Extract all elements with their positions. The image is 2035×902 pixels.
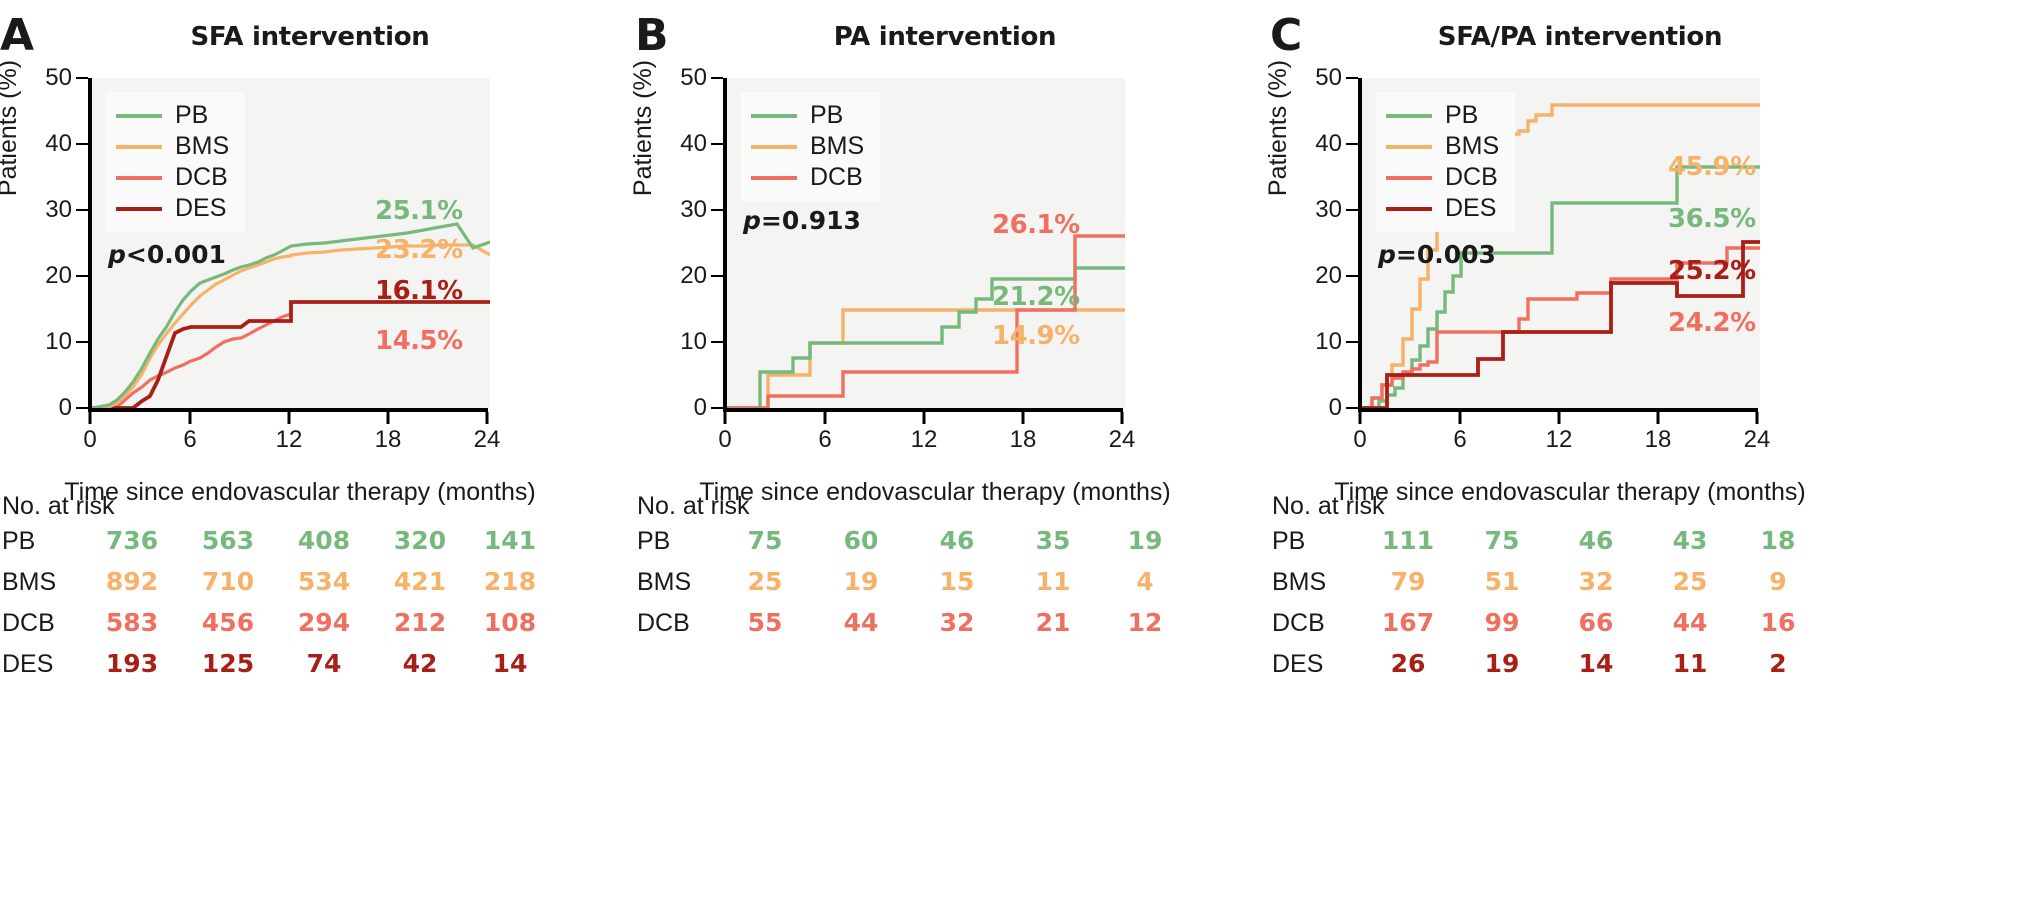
risk-value-bms-24-c: 9	[1769, 568, 1786, 596]
table-row: BMS 25 19 15 11 4	[635, 568, 1255, 609]
risk-value-bms-18-c: 25	[1673, 568, 1708, 596]
risk-value-pb-18-a: 320	[394, 527, 446, 555]
legend-item-pb-a[interactable]: PB	[116, 100, 229, 131]
plot-area-a: Patients (%) 50 40 30 20 10 0	[0, 78, 620, 438]
legend-label-dcb: DCB	[1445, 165, 1498, 190]
risk-value-pb-18-b: 35	[1036, 527, 1071, 555]
table-row: DES 26 19 14 11 2	[1270, 650, 1890, 691]
endpoint-label-bms-b: 14.9%	[992, 321, 1080, 351]
y-tick-40-c: 40	[1315, 132, 1342, 156]
x-tick-24-b: 24	[1109, 428, 1136, 452]
risk-value-des-12-c: 14	[1579, 650, 1614, 678]
legend-label-des: DES	[175, 196, 226, 221]
risk-value-pb-6-a: 563	[202, 527, 254, 555]
risk-table-title-c: No. at risk	[1272, 492, 1890, 521]
legend-line-dcb-icon	[1386, 176, 1432, 180]
risk-value-des-0-c: 26	[1391, 650, 1426, 678]
table-row: PB 75 60 46 35 19	[635, 527, 1255, 568]
table-row: DCB 583 456 294 212 108	[0, 609, 620, 650]
x-tick-24-c: 24	[1744, 428, 1771, 452]
risk-value-dcb-0-b: 55	[748, 609, 783, 637]
x-tick-18-c: 18	[1645, 428, 1672, 452]
p-value-c: p=0.003	[1378, 240, 1496, 269]
x-tick-12-a: 12	[276, 428, 303, 452]
p-text-b: =0.913	[761, 206, 861, 235]
risk-value-pb-24-a: 141	[484, 527, 536, 555]
risk-row-name-dcb-c: DCB	[1272, 611, 1325, 636]
table-row: PB 736 563 408 320 141	[0, 527, 620, 568]
legend-label-bms: BMS	[175, 134, 229, 159]
risk-table-title-a: No. at risk	[2, 492, 620, 521]
risk-value-des-6-c: 19	[1485, 650, 1520, 678]
legend-label-des: DES	[1445, 196, 1496, 221]
risk-value-dcb-18-b: 21	[1036, 609, 1071, 637]
x-axis-ticks-b: 0 6 12 18 24	[723, 412, 1127, 472]
endpoint-label-des-a: 16.1%	[375, 276, 463, 306]
y-tick-50-c: 50	[1315, 66, 1342, 90]
y-tick-10-c: 10	[1315, 330, 1342, 354]
legend-line-pb-icon	[116, 114, 162, 118]
risk-value-pb-12-c: 46	[1579, 527, 1614, 555]
y-axis-ticks-b: 50 40 30 20 10 0	[659, 78, 723, 408]
risk-row-name-dcb-b: DCB	[637, 611, 690, 636]
legend-a: PB BMS DCB DES	[106, 92, 245, 232]
x-axis-ticks-c: 0 6 12 18 24	[1358, 412, 1762, 472]
endpoint-label-bms-a: 23.2%	[375, 235, 463, 265]
table-row: DCB 55 44 32 21 12	[635, 609, 1255, 650]
table-row: DCB 167 99 66 44 16	[1270, 609, 1890, 650]
endpoint-label-pb-a: 25.1%	[375, 196, 463, 226]
risk-value-pb-24-b: 19	[1128, 527, 1163, 555]
risk-value-des-12-a: 74	[307, 650, 342, 678]
risk-table-a: No. at risk PB 736 563 408 320 141 BMS 8…	[0, 492, 620, 691]
legend-line-des-icon	[116, 207, 162, 211]
risk-value-dcb-24-b: 12	[1128, 609, 1163, 637]
x-tick-6-b: 6	[818, 428, 831, 452]
risk-row-name-bms-c: BMS	[1272, 570, 1326, 595]
x-tick-18-a: 18	[375, 428, 402, 452]
legend-c: PB BMS DCB DES	[1376, 92, 1515, 232]
p-value-b: p=0.913	[743, 206, 861, 235]
legend-label-pb: PB	[175, 103, 208, 128]
p-italic-c: p	[1378, 240, 1396, 269]
risk-row-name-bms-b: BMS	[637, 570, 691, 595]
endpoint-label-pb-c: 36.5%	[1668, 204, 1756, 234]
x-tick-12-b: 12	[911, 428, 938, 452]
risk-value-bms-24-a: 218	[484, 568, 536, 596]
x-tick-12-c: 12	[1546, 428, 1573, 452]
risk-value-pb-12-b: 46	[940, 527, 975, 555]
endpoint-label-bms-c: 45.9%	[1668, 152, 1756, 182]
y-axis-label-c: Patients (%)	[1264, 28, 1293, 228]
y-tick-30-c: 30	[1315, 198, 1342, 222]
panel-sfa-pa-intervention: C SFA/PA intervention Patients (%) 50 40…	[1270, 0, 1890, 902]
y-tick-40-b: 40	[680, 132, 707, 156]
legend-label-dcb: DCB	[810, 165, 863, 190]
risk-value-bms-0-a: 892	[106, 568, 158, 596]
risk-row-name-dcb-a: DCB	[2, 611, 55, 636]
panel-pa-intervention: B PA intervention Patients (%) 50 40 30 …	[635, 0, 1255, 902]
legend-label-bms: BMS	[1445, 134, 1499, 159]
legend-line-bms-icon	[1386, 145, 1432, 149]
risk-value-bms-6-c: 51	[1485, 568, 1520, 596]
risk-value-dcb-6-a: 456	[202, 609, 254, 637]
panel-title-a: SFA intervention	[60, 22, 560, 52]
risk-value-dcb-18-c: 44	[1673, 609, 1708, 637]
legend-label-dcb: DCB	[175, 165, 228, 190]
table-row: BMS 892 710 534 421 218	[0, 568, 620, 609]
risk-value-dcb-6-c: 99	[1485, 609, 1520, 637]
risk-value-dcb-12-b: 32	[940, 609, 975, 637]
legend-item-pb-c[interactable]: PB	[1386, 100, 1499, 131]
risk-value-pb-6-b: 60	[844, 527, 879, 555]
plot-area-b: Patients (%) 50 40 30 20 10 0	[635, 78, 1255, 438]
y-tick-20-a: 20	[45, 264, 72, 288]
risk-value-dcb-18-a: 212	[394, 609, 446, 637]
endpoint-label-dcb-c: 24.2%	[1668, 308, 1756, 338]
risk-row-name-des-a: DES	[2, 652, 53, 677]
y-tick-20-b: 20	[680, 264, 707, 288]
risk-value-des-6-a: 125	[202, 650, 254, 678]
y-axis-label-a: Patients (%)	[0, 28, 23, 228]
risk-value-dcb-12-c: 66	[1579, 609, 1614, 637]
y-tick-20-c: 20	[1315, 264, 1342, 288]
endpoint-label-des-c: 25.2%	[1668, 256, 1756, 286]
legend-item-bms-b[interactable]: BMS	[751, 131, 864, 162]
y-tick-0-a: 0	[59, 396, 72, 420]
risk-row-name-pb-c: PB	[1272, 529, 1305, 554]
x-tick-6-a: 6	[183, 428, 196, 452]
risk-value-pb-18-c: 43	[1673, 527, 1708, 555]
risk-value-des-18-c: 11	[1673, 650, 1708, 678]
y-tick-30-a: 30	[45, 198, 72, 222]
risk-value-pb-0-c: 111	[1382, 527, 1434, 555]
risk-value-bms-12-a: 534	[298, 568, 350, 596]
legend-line-bms-icon	[751, 145, 797, 149]
risk-value-des-24-c: 2	[1769, 650, 1786, 678]
y-tick-0-c: 0	[1329, 396, 1342, 420]
risk-value-des-0-a: 193	[106, 650, 158, 678]
legend-item-dcb-b[interactable]: DCB	[751, 162, 864, 193]
y-tick-0-b: 0	[694, 396, 707, 420]
x-tick-18-b: 18	[1010, 428, 1037, 452]
risk-value-des-18-a: 42	[403, 650, 438, 678]
risk-value-dcb-24-c: 16	[1761, 609, 1796, 637]
table-row: DES 193 125 74 42 14	[0, 650, 620, 691]
legend-line-dcb-icon	[751, 176, 797, 180]
risk-value-des-24-a: 14	[493, 650, 528, 678]
y-tick-10-a: 10	[45, 330, 72, 354]
p-text-c: =0.003	[1396, 240, 1496, 269]
x-tick-0-c: 0	[1353, 428, 1366, 452]
risk-value-bms-12-b: 15	[940, 568, 975, 596]
y-axis-ticks-c: 50 40 30 20 10 0	[1294, 78, 1358, 408]
y-tick-30-b: 30	[680, 198, 707, 222]
x-tick-6-c: 6	[1453, 428, 1466, 452]
panel-title-c: SFA/PA intervention	[1330, 22, 1830, 52]
legend-item-pb-b[interactable]: PB	[751, 100, 864, 131]
legend-label-bms: BMS	[810, 134, 864, 159]
risk-value-bms-6-b: 19	[844, 568, 879, 596]
legend-item-bms-c[interactable]: BMS	[1386, 131, 1499, 162]
risk-value-pb-24-c: 18	[1761, 527, 1796, 555]
y-tick-50-a: 50	[45, 66, 72, 90]
risk-value-bms-24-b: 4	[1136, 568, 1153, 596]
risk-row-name-pb-b: PB	[637, 529, 670, 554]
legend-label-pb: PB	[1445, 103, 1478, 128]
endpoint-label-pb-b: 21.2%	[992, 282, 1080, 312]
p-text-a: <0.001	[126, 240, 226, 269]
risk-row-name-pb-a: PB	[2, 529, 35, 554]
risk-value-dcb-0-c: 167	[1382, 609, 1434, 637]
x-tick-24-a: 24	[474, 428, 501, 452]
risk-value-pb-12-a: 408	[298, 527, 350, 555]
risk-row-name-des-c: DES	[1272, 652, 1323, 677]
risk-value-bms-12-c: 32	[1579, 568, 1614, 596]
x-axis-ticks-a: 0 6 12 18 24	[88, 412, 492, 472]
y-axis-ticks-a: 50 40 30 20 10 0	[24, 78, 88, 408]
p-italic-a: p	[108, 240, 126, 269]
table-row: PB 111 75 46 43 18	[1270, 527, 1890, 568]
legend-item-des-a[interactable]: DES	[116, 193, 229, 224]
table-row: BMS 79 51 32 25 9	[1270, 568, 1890, 609]
legend-item-des-c[interactable]: DES	[1386, 193, 1499, 224]
risk-value-dcb-12-a: 294	[298, 609, 350, 637]
y-tick-40-a: 40	[45, 132, 72, 156]
risk-row-name-bms-a: BMS	[2, 570, 56, 595]
x-tick-0-a: 0	[83, 428, 96, 452]
risk-value-bms-0-c: 79	[1391, 568, 1426, 596]
legend-item-bms-a[interactable]: BMS	[116, 131, 229, 162]
risk-value-dcb-0-a: 583	[106, 609, 158, 637]
risk-value-pb-0-a: 736	[106, 527, 158, 555]
legend-b: PB BMS DCB	[741, 92, 880, 201]
legend-line-pb-icon	[751, 114, 797, 118]
p-value-a: p<0.001	[108, 240, 226, 269]
endpoint-label-dcb-a: 14.5%	[375, 326, 463, 356]
risk-value-bms-18-a: 421	[394, 568, 446, 596]
risk-table-title-b: No. at risk	[637, 492, 1255, 521]
panel-title-b: PA intervention	[695, 22, 1195, 52]
risk-value-pb-0-b: 75	[748, 527, 783, 555]
risk-table-c: No. at risk PB 111 75 46 43 18 BMS 79 51…	[1270, 492, 1890, 691]
legend-line-bms-icon	[116, 145, 162, 149]
legend-line-pb-icon	[1386, 114, 1432, 118]
risk-table-b: No. at risk PB 75 60 46 35 19 BMS 25 19 …	[635, 492, 1255, 650]
risk-value-dcb-6-b: 44	[844, 609, 879, 637]
legend-line-des-icon	[1386, 207, 1432, 211]
y-axis-label-b: Patients (%)	[629, 28, 658, 228]
risk-value-bms-0-b: 25	[748, 568, 783, 596]
kaplan-meier-figure: A SFA intervention Patients (%) 50 40 30…	[0, 0, 2035, 902]
legend-label-pb: PB	[810, 103, 843, 128]
y-tick-10-b: 10	[680, 330, 707, 354]
legend-item-dcb-c[interactable]: DCB	[1386, 162, 1499, 193]
panel-sfa-intervention: A SFA intervention Patients (%) 50 40 30…	[0, 0, 620, 902]
risk-value-pb-6-c: 75	[1485, 527, 1520, 555]
p-italic-b: p	[743, 206, 761, 235]
risk-value-bms-18-b: 11	[1036, 568, 1071, 596]
risk-value-bms-6-a: 710	[202, 568, 254, 596]
x-tick-0-b: 0	[718, 428, 731, 452]
legend-item-dcb-a[interactable]: DCB	[116, 162, 229, 193]
risk-value-dcb-24-a: 108	[484, 609, 536, 637]
legend-line-dcb-icon	[116, 176, 162, 180]
endpoint-label-dcb-b: 26.1%	[992, 210, 1080, 240]
y-tick-50-b: 50	[680, 66, 707, 90]
plot-area-c: Patients (%) 50 40 30 20 10 0	[1270, 78, 1890, 438]
